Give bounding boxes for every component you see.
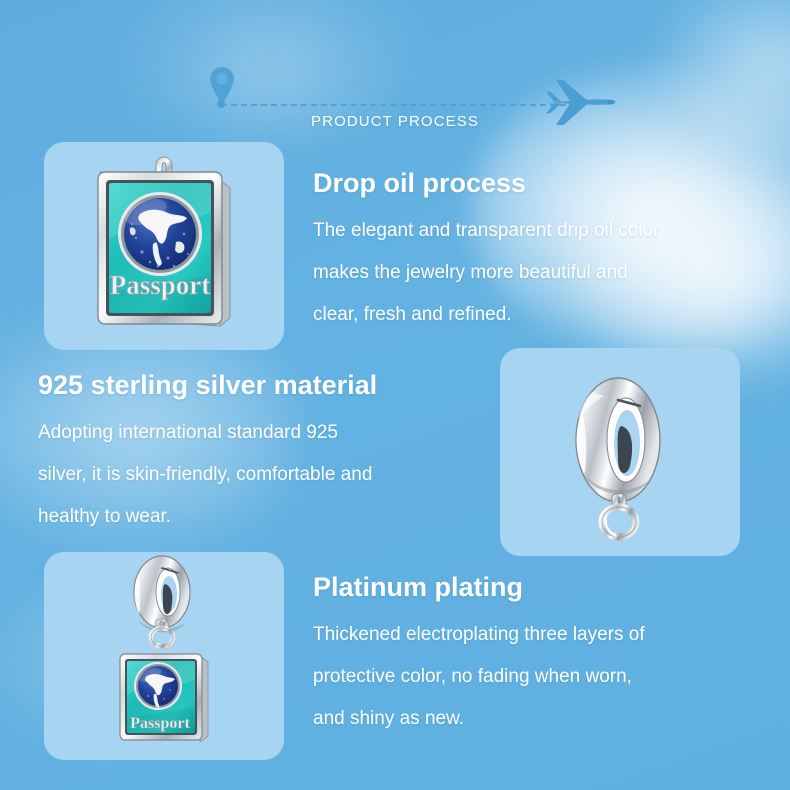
body-line: The elegant and transparent drip oil col… bbox=[313, 210, 765, 252]
body-line: makes the jewelry more beautiful and bbox=[313, 252, 765, 294]
section-body-sterling-silver: Adopting international standard 925 silv… bbox=[38, 412, 490, 538]
body-line: silver, it is skin-friendly, comfortable… bbox=[38, 454, 490, 496]
body-line: healthy to wear. bbox=[38, 496, 490, 538]
section-title-drop-oil: Drop oil process bbox=[313, 166, 765, 200]
body-line: and shiny as new. bbox=[313, 698, 765, 740]
passport-label-small: Passport bbox=[130, 715, 190, 732]
image-card-passport-charm: Passport bbox=[44, 142, 284, 350]
section-title-platinum-plating: Platinum plating bbox=[313, 570, 765, 604]
infographic-canvas: PRODUCT PROCESS bbox=[0, 0, 790, 790]
full-charm-illustration: Passport bbox=[44, 552, 284, 760]
section-title-sterling-silver: 925 sterling silver material bbox=[38, 368, 490, 402]
section-platinum-plating: Platinum plating Thickened electroplatin… bbox=[313, 570, 765, 740]
silver-clasp-illustration bbox=[500, 348, 740, 556]
section-body-drop-oil: The elegant and transparent drip oil col… bbox=[313, 210, 765, 336]
body-line: protective color, no fading when worn, bbox=[313, 656, 765, 698]
section-drop-oil: Drop oil process The elegant and transpa… bbox=[313, 166, 765, 336]
section-sterling-silver: 925 sterling silver material Adopting in… bbox=[38, 368, 490, 538]
image-card-full-charm: Passport bbox=[44, 552, 284, 760]
section-body-platinum-plating: Thickened electroplating three layers of… bbox=[313, 614, 765, 740]
body-line: Adopting international standard 925 bbox=[38, 412, 490, 454]
route-dashed-line bbox=[221, 104, 566, 106]
body-line: Thickened electroplating three layers of bbox=[313, 614, 765, 656]
page-title: PRODUCT PROCESS bbox=[0, 113, 790, 130]
body-line: clear, fresh and refined. bbox=[313, 294, 765, 336]
passport-label: Passport bbox=[110, 270, 211, 300]
header-banner: PRODUCT PROCESS bbox=[0, 0, 790, 145]
passport-charm-front-illustration: Passport bbox=[44, 142, 284, 350]
image-card-silver-clasp bbox=[500, 348, 740, 556]
